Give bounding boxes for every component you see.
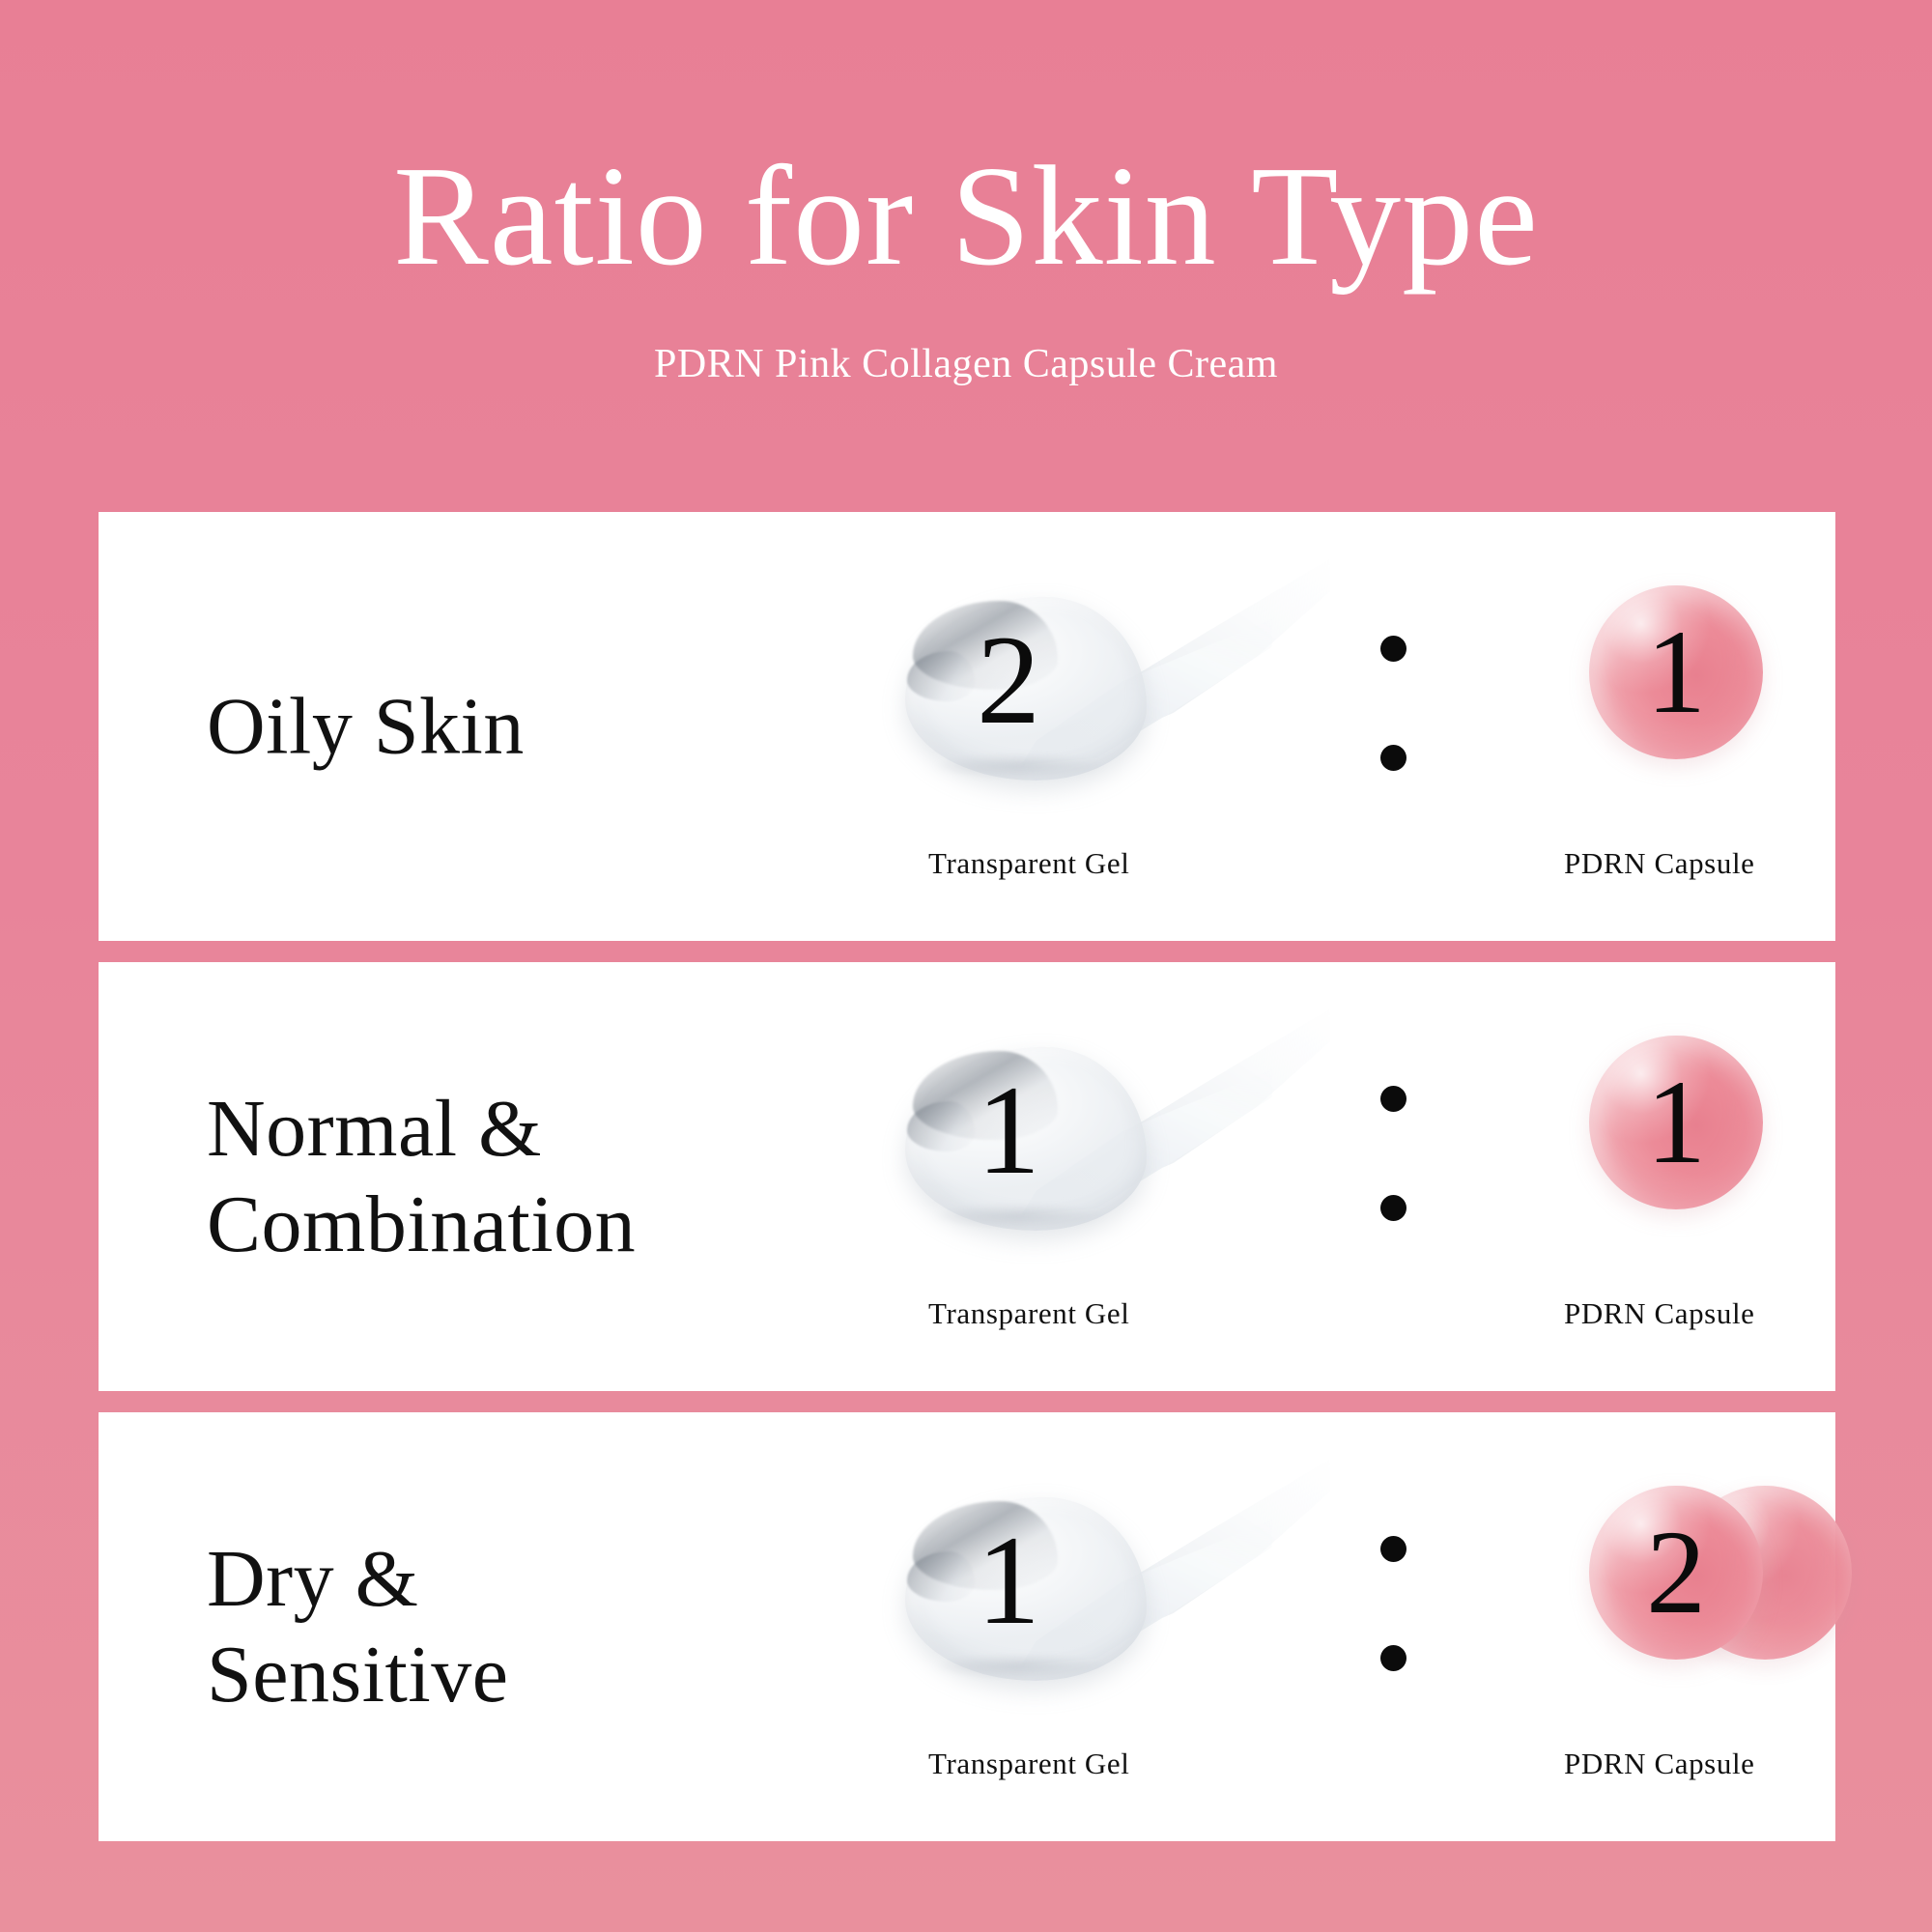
capsule-ratio-number: 1 <box>1589 1036 1763 1209</box>
gel-column: 2 Transparent Gel <box>905 512 1311 941</box>
ratio-separator <box>1374 1086 1412 1221</box>
gel-caption: Transparent Gel <box>905 1747 1311 1781</box>
skin-type-label: Dry & Sensitive <box>207 1531 786 1722</box>
transparent-gel-swatch-icon: 1 <box>905 1468 1311 1719</box>
capsule-caption: PDRN Capsule <box>1504 1296 1929 1331</box>
skin-type-label: Normal & Combination <box>207 1081 786 1272</box>
pink-capsule-sphere-icon: 1 <box>1504 574 1929 815</box>
transparent-gel-swatch-icon: 2 <box>905 568 1311 819</box>
ratio-card-list: Oily Skin 2 Transparent Gel <box>99 512 1835 1841</box>
gel-caption: Transparent Gel <box>905 1296 1311 1331</box>
page-subtitle: PDRN Pink Collagen Capsule Cream <box>654 342 1278 386</box>
capsule-column: 1 PDRN Capsule <box>1504 962 1929 1391</box>
ratio-row-card[interactable]: Oily Skin 2 Transparent Gel <box>99 512 1835 941</box>
transparent-gel-swatch-icon: 1 <box>905 1018 1311 1269</box>
page-header: Ratio for Skin Type PDRN Pink Collagen C… <box>0 0 1932 512</box>
gel-column: 1 Transparent Gel <box>905 962 1311 1391</box>
capsule-caption: PDRN Capsule <box>1504 846 1929 881</box>
skin-type-label-line: Normal & <box>207 1081 786 1177</box>
skin-type-label-line: Combination <box>207 1177 786 1272</box>
gel-caption: Transparent Gel <box>905 846 1311 881</box>
ratio-separator-dot-bottom <box>1380 1645 1406 1671</box>
skin-type-label-line: Oily Skin <box>207 678 786 774</box>
ratio-row-card[interactable]: Dry & Sensitive 1 Transparent Gel <box>99 1412 1835 1841</box>
gel-shadow-shape <box>915 750 1147 782</box>
skin-type-label-line: Dry & <box>207 1531 786 1627</box>
skin-type-label: Oily Skin <box>207 678 786 774</box>
ratio-separator <box>1374 1536 1412 1671</box>
capsule-ratio-number: 2 <box>1589 1486 1763 1660</box>
gel-shadow-shape <box>915 1650 1147 1683</box>
ratio-separator-dot-top <box>1380 1536 1406 1562</box>
ratio-separator <box>1374 636 1412 771</box>
pink-capsule-sphere-icon: 2 <box>1504 1474 1929 1716</box>
capsule-caption: PDRN Capsule <box>1504 1747 1929 1781</box>
ratio-separator-dot-top <box>1380 636 1406 662</box>
pink-capsule-sphere-icon: 1 <box>1504 1024 1929 1265</box>
capsule-column: 2 PDRN Capsule <box>1504 1412 1929 1841</box>
capsule-ratio-number: 1 <box>1589 585 1763 759</box>
gel-column: 1 Transparent Gel <box>905 1412 1311 1841</box>
ratio-separator-dot-top <box>1380 1086 1406 1112</box>
ratio-separator-dot-bottom <box>1380 1195 1406 1221</box>
gel-shadow-shape <box>915 1200 1147 1233</box>
ratio-separator-dot-bottom <box>1380 745 1406 771</box>
gel-ratio-number: 2 <box>977 616 1040 744</box>
skin-type-label-line: Sensitive <box>207 1627 786 1722</box>
gel-ratio-number: 1 <box>977 1517 1040 1644</box>
gel-ratio-number: 1 <box>977 1066 1040 1194</box>
page-title: Ratio for Skin Type <box>393 145 1539 288</box>
ratio-row-card[interactable]: Normal & Combination 1 Transparent Gel <box>99 962 1835 1391</box>
capsule-column: 1 PDRN Capsule <box>1504 512 1929 941</box>
